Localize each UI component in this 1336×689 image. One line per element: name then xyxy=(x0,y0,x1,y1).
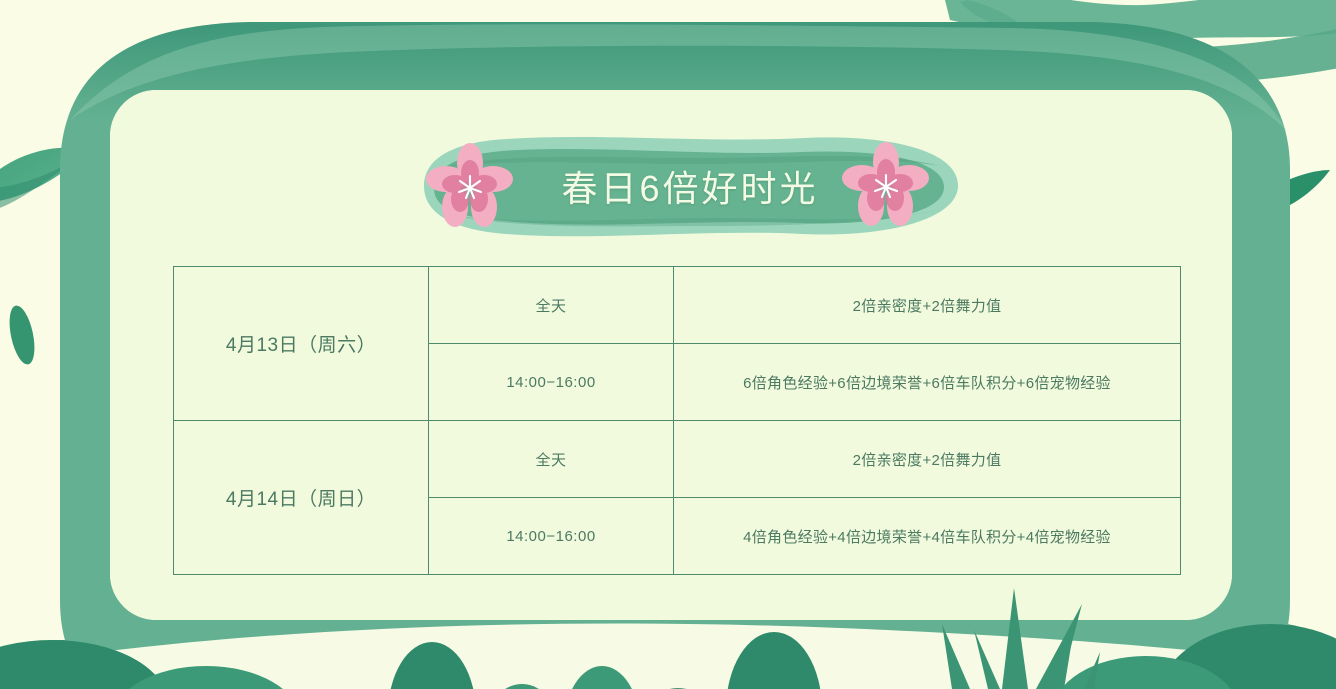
foreground-scenery xyxy=(0,0,1336,689)
poster-canvas: 春日6倍好时光 4月13日（周六） 全天 2倍亲密度+2倍舞力值 14:00−1… xyxy=(0,0,1336,689)
